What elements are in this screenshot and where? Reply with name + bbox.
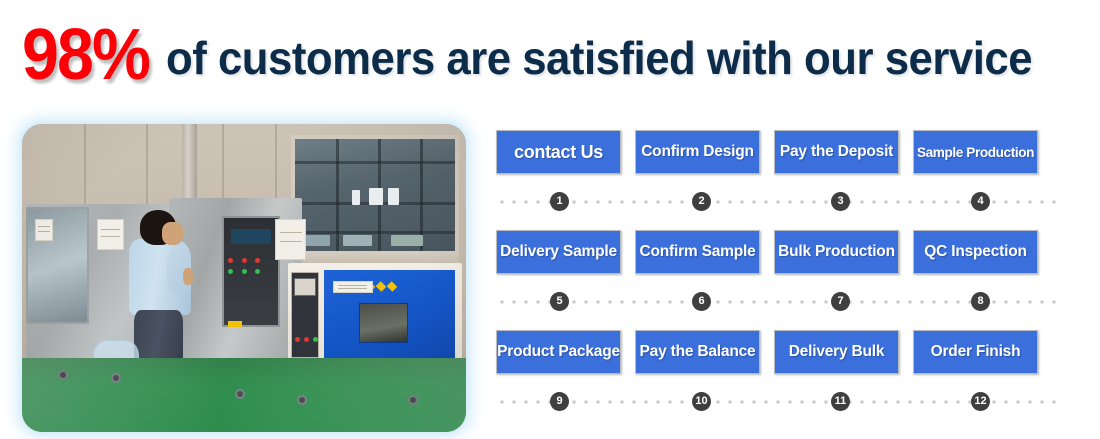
headline-percent: 98% [22,19,149,91]
headline-text: of customers are satisfied with our serv… [166,35,1032,81]
factory-photo-panel [22,124,466,432]
photo-led-red [242,258,247,263]
photo-label-sheet [35,219,53,241]
step-row-2: Delivery Sample Confirm Sample Bulk Prod… [496,230,1066,330]
step-label-12: Order Finish [931,343,1021,361]
photo-label-sheet [97,219,124,250]
step-button-7[interactable]: Bulk Production [774,230,899,274]
photo-oven-gauge [294,278,316,296]
step-label-2: Confirm Design [641,143,754,161]
step-label-1: contact Us [514,142,603,163]
step-label-11: Delivery Bulk [789,343,885,361]
photo-label-sheet [275,219,306,259]
step-button-3[interactable]: Pay the Deposit [774,130,899,174]
photo-led-green [242,269,247,274]
step-number-badge-1: 1 [550,192,569,211]
step-number-badge-12: 12 [971,392,990,411]
step-row-3: Product Package Pay the Balance Delivery… [496,330,1066,430]
photo-label-sheet [333,281,373,293]
step-button-8[interactable]: QC Inspection [913,230,1038,274]
step-connector-1: 1 2 3 4 [496,192,1062,212]
step-button-6[interactable]: Confirm Sample [635,230,760,274]
photo-oven-window [359,303,408,343]
step-button-5[interactable]: Delivery Sample [496,230,621,274]
photo-window [291,135,460,255]
step-button-1[interactable]: contact Us [496,130,621,174]
step-label-7: Bulk Production [778,243,895,261]
photo-panel-screen [231,229,271,244]
step-button-12[interactable]: Order Finish [913,330,1038,374]
step-label-8: QC Inspection [924,243,1026,261]
page-headline: 98% of customers are satisfied with our … [0,8,1100,100]
photo-duct [182,124,197,204]
step-button-9[interactable]: Product Package [496,330,621,374]
step-label-4: Sample Production [917,145,1034,160]
step-button-4[interactable]: Sample Production [913,130,1038,174]
step-number-badge-11: 11 [831,392,850,411]
step-number-badge-7: 7 [831,292,850,311]
step-connector-3: 9 10 11 12 [496,392,1062,412]
step-number-badge-5: 5 [550,292,569,311]
step-number-badge-4: 4 [971,192,990,211]
step-row-1: contact Us Confirm Design Pay the Deposi… [496,130,1066,230]
step-button-2[interactable]: Confirm Design [635,130,760,174]
factory-photo [22,124,466,432]
step-number-badge-10: 10 [692,392,711,411]
step-label-9: Product Package [497,343,620,361]
step-connector-2: 5 6 7 8 [496,292,1062,312]
photo-warning-sticker [228,321,242,327]
step-button-11[interactable]: Delivery Bulk [774,330,899,374]
step-number-badge-9: 9 [550,392,569,411]
step-label-3: Pay the Deposit [780,143,893,161]
step-label-5: Delivery Sample [500,243,617,261]
step-button-10[interactable]: Pay the Balance [635,330,760,374]
step-number-badge-2: 2 [692,192,711,211]
step-label-10: Pay the Balance [640,343,756,361]
photo-led-green [255,269,260,274]
step-label-6: Confirm Sample [639,243,755,261]
order-process-steps: contact Us Confirm Design Pay the Deposi… [496,130,1066,430]
step-number-badge-8: 8 [971,292,990,311]
step-number-badge-3: 3 [831,192,850,211]
step-number-badge-6: 6 [692,292,711,311]
